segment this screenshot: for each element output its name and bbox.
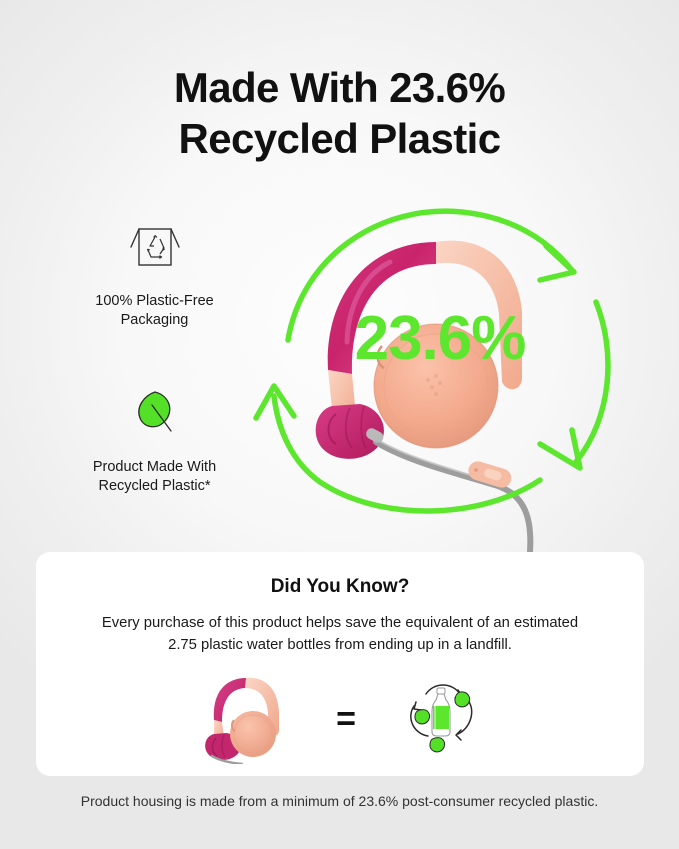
equivalence-row: = <box>36 668 644 769</box>
headphones-illustration <box>316 241 531 552</box>
hero-illustration <box>240 190 640 570</box>
recycle-box-icon <box>52 212 257 284</box>
arrow-bottom-right <box>576 302 608 462</box>
equals-sign: = <box>336 702 356 736</box>
feature-item-packaging: 100% Plastic-Free Packaging <box>52 212 257 330</box>
page-title: Made With 23.6% Recycled Plastic <box>0 62 679 164</box>
feature-label-recycled-plastic: Product Made With Recycled Plastic* <box>52 458 257 496</box>
feature-item-recycled-plastic: Product Made With Recycled Plastic* <box>52 378 257 496</box>
did-you-know-card: Did You Know? Every purchase of this pro… <box>36 552 644 776</box>
page-title-line-2: Recycled Plastic <box>0 113 679 164</box>
arrow-bottom-right-head <box>540 430 580 468</box>
leaf-icon <box>52 378 257 450</box>
arrow-top-right <box>288 211 570 340</box>
feature-label-packaging: 100% Plastic-Free Packaging <box>52 292 257 330</box>
card-title: Did You Know? <box>36 576 644 598</box>
feature-label-packaging-line-2: Packaging <box>121 312 189 328</box>
hero-graphic: 23.6% <box>240 190 640 570</box>
card-body: Every purchase of this product helps sav… <box>90 612 590 656</box>
footnote: Product housing is made from a minimum o… <box>0 793 679 809</box>
feature-label-recycled-plastic-line-1: Product Made With <box>93 459 216 475</box>
card-body-line-1: Every purchase of this product helps sav… <box>102 615 510 631</box>
feature-label-packaging-line-1: 100% Plastic-Free <box>95 293 213 309</box>
page-title-line-1: Made With 23.6% <box>0 62 679 113</box>
recycled-bottle-icon <box>398 672 490 765</box>
pink-headphones-icon <box>190 668 294 769</box>
feature-list: 100% Plastic-Free Packaging Product Made… <box>52 212 257 544</box>
feature-label-recycled-plastic-line-2: Recycled Plastic* <box>98 478 210 494</box>
